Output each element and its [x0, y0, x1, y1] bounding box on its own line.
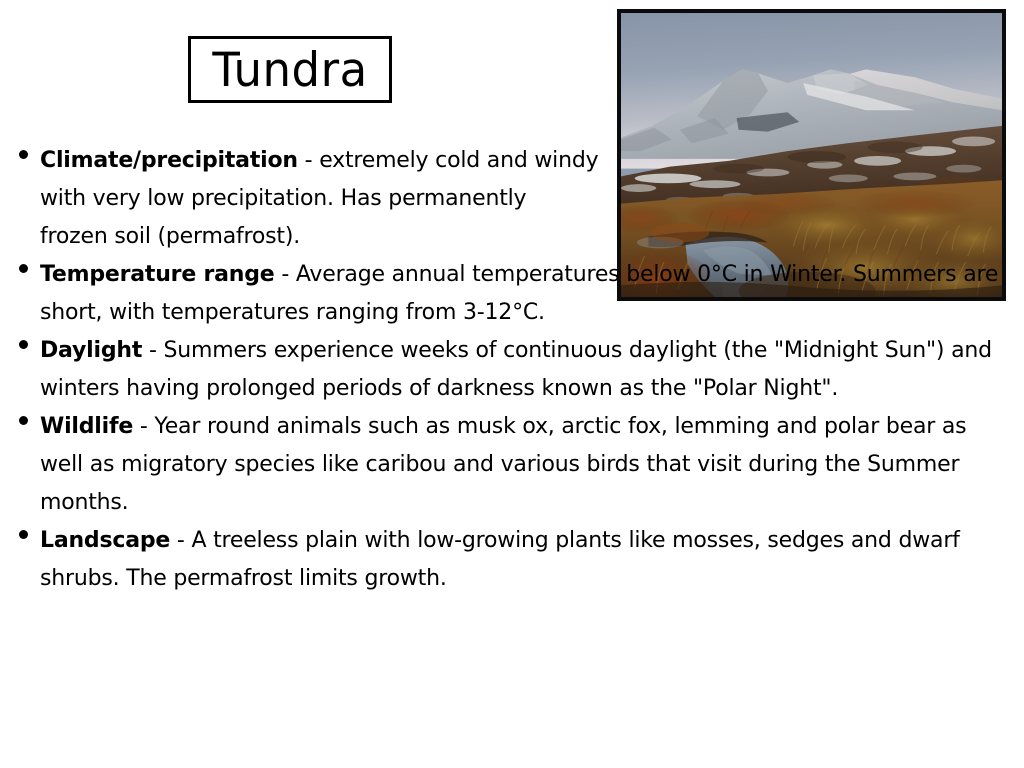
- slide-canvas: Tundra: [0, 0, 1024, 768]
- title-box: Tundra: [188, 36, 392, 103]
- bullet-separator: -: [133, 414, 154, 439]
- page-title: Tundra: [212, 46, 367, 93]
- bullet-dot-icon: [19, 150, 28, 159]
- bullet-dot-icon: [19, 416, 28, 425]
- bullet-dot-icon: [19, 340, 28, 349]
- list-item: Climate/precipitation - extremely cold a…: [14, 142, 1014, 256]
- bullet-dot-icon: [19, 530, 28, 539]
- bullet-label: Landscape: [40, 528, 170, 553]
- bullet-label: Temperature range: [40, 262, 275, 287]
- bullet-text: Daylight - Summers experience weeks of c…: [40, 332, 1014, 408]
- bullet-text: Landscape - A treeless plain with low-gr…: [40, 522, 1014, 598]
- bullet-text: Temperature range - Average annual tempe…: [40, 256, 1014, 332]
- bullet-separator: -: [275, 262, 296, 287]
- list-item: Daylight - Summers experience weeks of c…: [14, 332, 1014, 408]
- bullet-label: Wildlife: [40, 414, 133, 439]
- bullet-label: Daylight: [40, 338, 142, 363]
- bullet-text: Climate/precipitation - extremely cold a…: [40, 142, 600, 256]
- bullet-separator: -: [170, 528, 191, 553]
- bullet-list: Climate/precipitation - extremely cold a…: [14, 142, 1014, 598]
- bullet-separator: -: [142, 338, 163, 363]
- list-item: Landscape - A treeless plain with low-gr…: [14, 522, 1014, 598]
- bullet-separator: -: [298, 148, 319, 173]
- bullet-body: Summers experience weeks of continuous d…: [40, 338, 992, 401]
- bullet-body: Year round animals such as musk ox, arct…: [40, 414, 966, 515]
- bullet-dot-icon: [19, 264, 28, 273]
- list-item: Wildlife - Year round animals such as mu…: [14, 408, 1014, 522]
- bullet-text: Wildlife - Year round animals such as mu…: [40, 408, 1014, 522]
- bullet-label: Climate/precipitation: [40, 148, 298, 173]
- list-item: Temperature range - Average annual tempe…: [14, 256, 1014, 332]
